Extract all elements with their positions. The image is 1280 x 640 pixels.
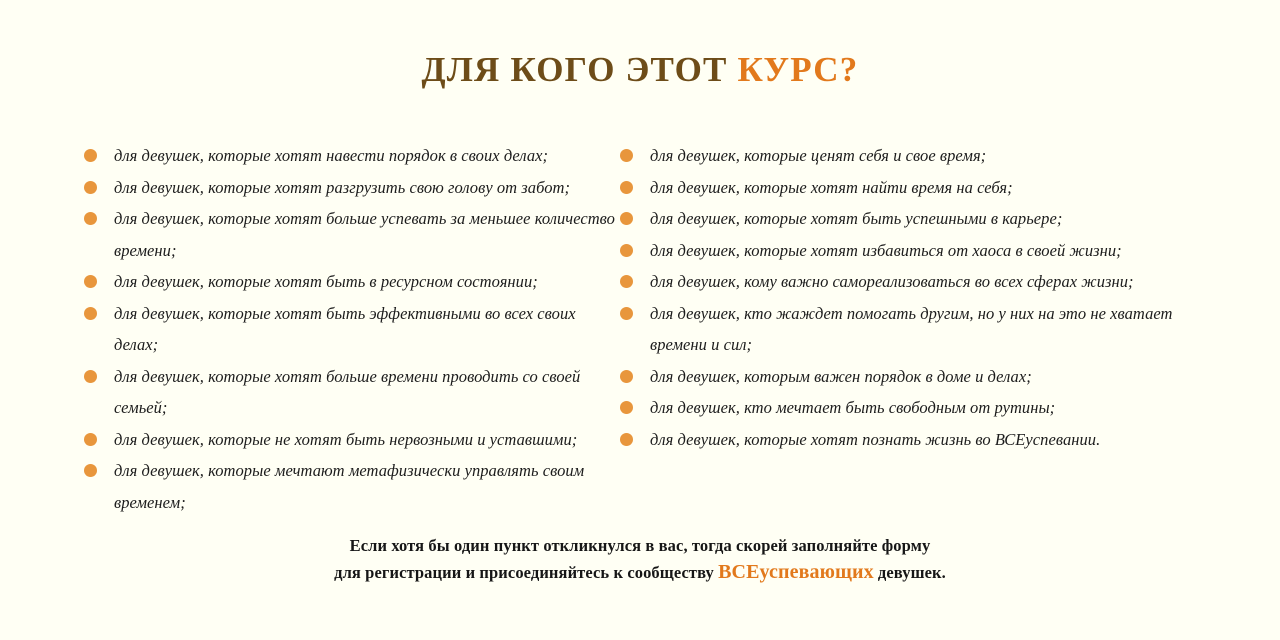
page-title: ДЛЯ КОГО ЭТОТ КУРС? [0,48,1280,92]
bullet-dot-icon [620,401,633,414]
list-item-label: для девушек, которые мечтают метафизичес… [114,461,584,512]
footer-line-2: для регистрации и присоединяйтесь к сооб… [0,559,1280,586]
list-item-label: для девушек, кто мечтает быть свободным … [650,398,1055,417]
bullet-columns: для девушек, которые хотят навести поряд… [0,140,1280,518]
footer-accent-word: ВСЕуспевающих [718,561,874,583]
list-item: для девушек, которые хотят больше времен… [84,361,620,424]
list-item: для девушек, которые хотят навести поряд… [84,140,620,172]
list-item: для девушек, которые хотят быть в ресурс… [84,266,620,298]
bullet-list-right: для девушек, которые ценят себя и свое в… [620,140,1280,455]
list-item: для девушек, кому важно самореализоватьс… [620,266,1196,298]
list-item-label: для девушек, которые ценят себя и свое в… [650,146,986,165]
list-item-label: для девушек, которым важен порядок в дом… [650,367,1032,386]
bullet-dot-icon [620,212,633,225]
bullet-dot-icon [84,275,97,288]
list-item-label: для девушек, которые хотят больше успева… [114,209,615,260]
list-item: для девушек, которые не хотят быть нерво… [84,424,620,456]
title-main: ДЛЯ КОГО ЭТОТ [422,50,738,89]
footer-line-2-before: для регистрации и присоединяйтесь к сооб… [334,563,718,582]
bullet-dot-icon [84,181,97,194]
bullet-dot-icon [620,149,633,162]
list-item-label: для девушек, которые хотят избавиться от… [650,241,1122,260]
list-item-label: для девушек, которые хотят больше времен… [114,367,580,418]
list-item-label: для девушек, которые не хотят быть нерво… [114,430,577,449]
list-item-label: для девушек, которые хотят разгрузить св… [114,178,570,197]
bullet-column-right: для девушек, которые ценят себя и свое в… [620,140,1280,455]
list-item: для девушек, которые хотят быть успешным… [620,203,1196,235]
bullet-dot-icon [620,275,633,288]
bullet-dot-icon [620,244,633,257]
list-item-label: для девушек, которые хотят познать жизнь… [650,430,1100,449]
list-item-label: для девушек, которые хотят быть эффектив… [114,304,576,355]
bullet-dot-icon [620,370,633,383]
list-item: для девушек, кто жаждет помогать другим,… [620,298,1196,361]
bullet-list-left: для девушек, которые хотят навести поряд… [84,140,620,518]
footer-cta: Если хотя бы один пункт откликнулся в ва… [0,532,1280,586]
list-item-label: для девушек, которые хотят навести поряд… [114,146,548,165]
bullet-dot-icon [620,433,633,446]
bullet-dot-icon [84,307,97,320]
list-item: для девушек, которые хотят познать жизнь… [620,424,1196,456]
list-item-label: для девушек, которые хотят быть в ресурс… [114,272,538,291]
bullet-dot-icon [84,149,97,162]
footer-line-1: Если хотя бы один пункт откликнулся в ва… [0,532,1280,559]
bullet-dot-icon [84,433,97,446]
list-item: для девушек, которые хотят быть эффектив… [84,298,620,361]
bullet-dot-icon [84,212,97,225]
list-item: для девушек, которые хотят найти время н… [620,172,1196,204]
footer-line-2-after: девушек. [874,563,946,582]
list-item: для девушек, которые хотят разгрузить св… [84,172,620,204]
list-item: для девушек, которые ценят себя и свое в… [620,140,1196,172]
list-item-label: для девушек, которые хотят найти время н… [650,178,1013,197]
list-item-label: для девушек, кто жаждет помогать другим,… [650,304,1173,355]
title-text: ДЛЯ КОГО ЭТОТ КУРС? [0,48,1280,92]
bullet-column-left: для девушек, которые хотят навести поряд… [0,140,620,518]
bullet-dot-icon [84,464,97,477]
list-item-label: для девушек, которые хотят быть успешным… [650,209,1062,228]
list-item: для девушек, которым важен порядок в дом… [620,361,1196,393]
bullet-dot-icon [620,307,633,320]
title-accent: КУРС? [738,50,859,89]
list-item: для девушек, которые мечтают метафизичес… [84,455,620,518]
list-item: для девушек, кто мечтает быть свободным … [620,392,1196,424]
bullet-dot-icon [620,181,633,194]
bullet-dot-icon [84,370,97,383]
slide-root: ДЛЯ КОГО ЭТОТ КУРС? для девушек, которые… [0,0,1280,640]
list-item-label: для девушек, кому важно самореализоватьс… [650,272,1134,291]
list-item: для девушек, которые хотят больше успева… [84,203,620,266]
list-item: для девушек, которые хотят избавиться от… [620,235,1196,267]
